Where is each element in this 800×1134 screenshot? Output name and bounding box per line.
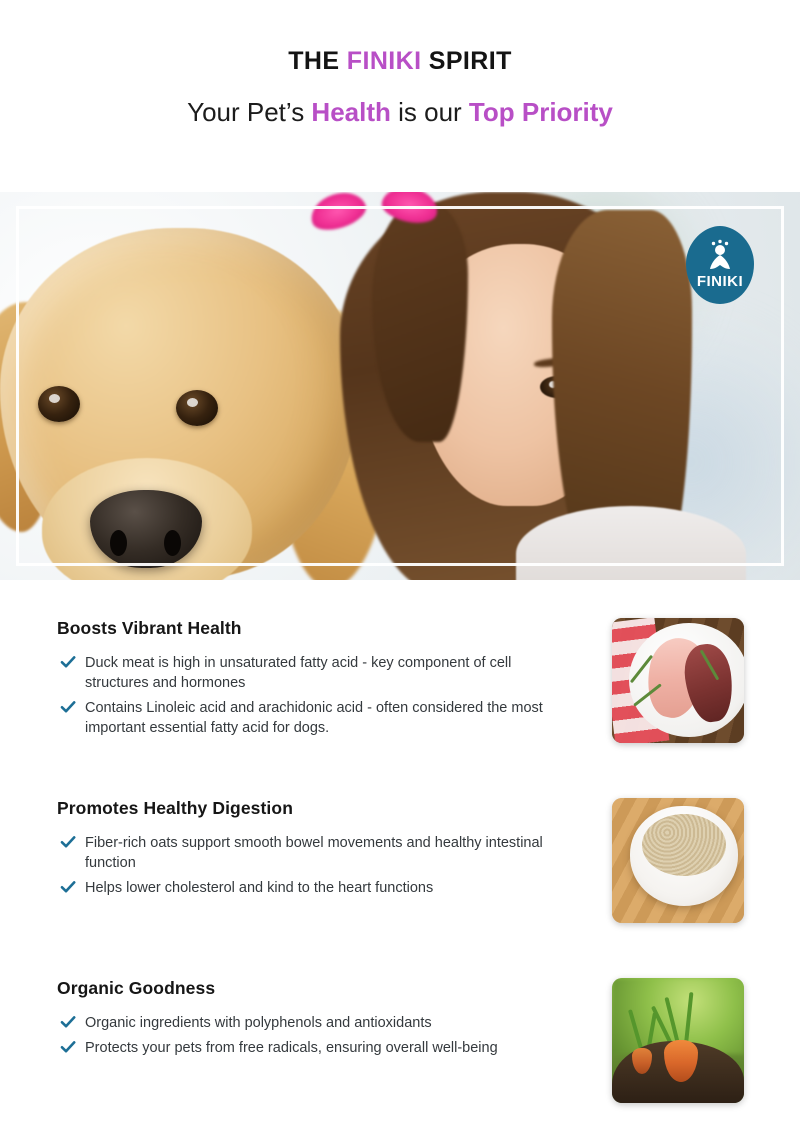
list-item: Fiber-rich oats support smooth bowel mov… [57, 833, 577, 873]
check-icon [60, 699, 76, 715]
check-icon [60, 1014, 76, 1030]
bullet-text: Organic ingredients with polyphenols and… [85, 1015, 432, 1031]
feature-thumbnail-carrots [612, 978, 744, 1103]
marketing-page: THE FINIKI SPIRIT Your Pet’s Health is o… [0, 0, 800, 1134]
feature-bullet-list: Fiber-rich oats support smooth bowel mov… [57, 833, 577, 898]
dog-nostril-right [164, 530, 181, 556]
list-item: Protects your pets from free radicals, e… [57, 1038, 577, 1058]
features-section: Boosts Vibrant Health Duck meat is high … [0, 580, 800, 1134]
hero-photo: FINIKI [0, 192, 800, 580]
check-icon [60, 1039, 76, 1055]
page-title-suffix: SPIRIT [421, 47, 511, 75]
hero-girl [320, 192, 720, 580]
page-subtitle-part1: Your Pet’s [187, 97, 311, 127]
bullet-text: Fiber-rich oats support smooth bowel mov… [85, 835, 543, 871]
bullet-text: Contains Linoleic acid and arachidonic a… [85, 700, 543, 736]
feature-title: Boosts Vibrant Health [57, 618, 577, 639]
page-subtitle: Your Pet’s Health is our Top Priority [0, 97, 800, 128]
check-icon [60, 654, 76, 670]
dog-nostril-left [110, 530, 127, 556]
bullet-text: Helps lower cholesterol and kind to the … [85, 880, 433, 896]
finiki-logo[interactable]: FINIKI [682, 224, 758, 310]
page-header: THE FINIKI SPIRIT Your Pet’s Health is o… [0, 0, 800, 192]
page-title: THE FINIKI SPIRIT [0, 48, 800, 76]
list-item: Helps lower cholesterol and kind to the … [57, 878, 577, 898]
page-title-brand: FINIKI [347, 47, 422, 75]
feature-title: Promotes Healthy Digestion [57, 798, 577, 819]
list-item: Duck meat is high in unsaturated fatty a… [57, 653, 577, 693]
logo-label: FINIKI [697, 273, 743, 290]
feature-text: Boosts Vibrant Health Duck meat is high … [57, 618, 577, 743]
bullet-text: Duck meat is high in unsaturated fatty a… [85, 655, 511, 691]
hair-bow-right-icon [379, 192, 441, 227]
dog-eye-left [38, 386, 80, 422]
page-title-prefix: THE [288, 47, 347, 75]
feature-text: Promotes Healthy Digestion Fiber-rich oa… [57, 798, 577, 903]
check-icon [60, 879, 76, 895]
list-item: Organic ingredients with polyphenols and… [57, 1013, 577, 1033]
oats-photo [612, 798, 744, 923]
carrots-photo [612, 978, 744, 1103]
page-subtitle-accent-priority: Top Priority [469, 97, 613, 127]
check-icon [60, 834, 76, 850]
feature-bullet-list: Organic ingredients with polyphenols and… [57, 1013, 577, 1058]
duck-meat-photo [612, 618, 744, 743]
bullet-text: Protects your pets from free radicals, e… [85, 1040, 498, 1056]
feature-thumbnail-duck-meat [612, 618, 744, 743]
dog-eye-right [176, 390, 218, 426]
feature-text: Organic Goodness Organic ingredients wit… [57, 978, 577, 1063]
rolled-oats [642, 814, 726, 876]
list-item: Contains Linoleic acid and arachidonic a… [57, 698, 577, 738]
hero-banner: FINIKI [0, 192, 800, 580]
page-subtitle-part2: is our [391, 97, 469, 127]
page-subtitle-accent-health: Health [311, 97, 390, 127]
feature-thumbnail-oats [612, 798, 744, 923]
feature-title: Organic Goodness [57, 978, 577, 999]
feature-bullet-list: Duck meat is high in unsaturated fatty a… [57, 653, 577, 738]
